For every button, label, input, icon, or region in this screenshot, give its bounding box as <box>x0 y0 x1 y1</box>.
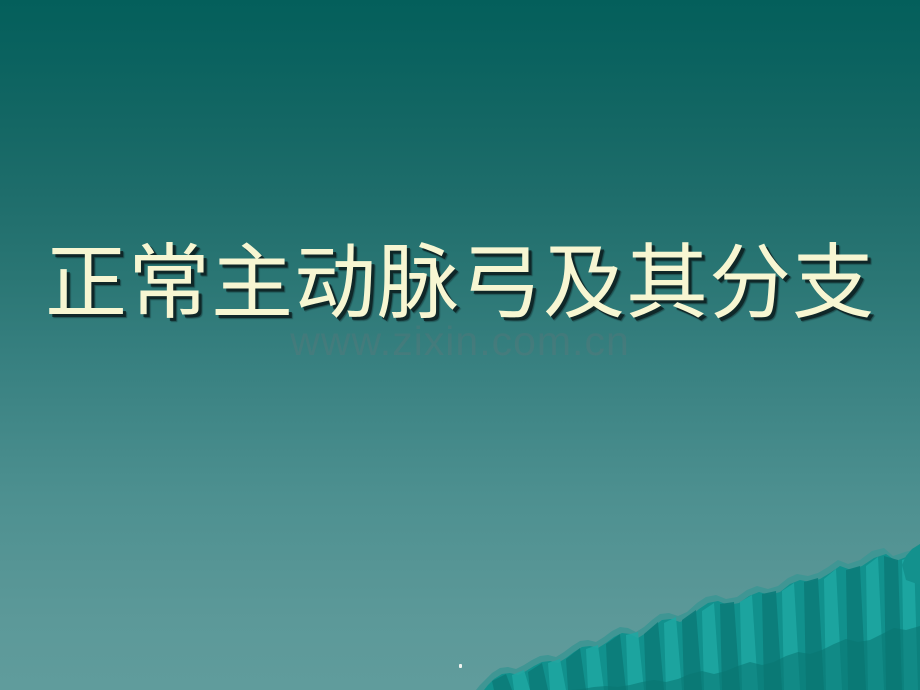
footer-dot-marker <box>459 664 462 668</box>
presentation-slide: www.zixin.com.cn 正常主动脉弓及其分支 <box>0 0 920 690</box>
page-title: 正常主动脉弓及其分支 <box>45 236 875 333</box>
slide-title-block: 正常主动脉弓及其分支 <box>0 236 920 333</box>
